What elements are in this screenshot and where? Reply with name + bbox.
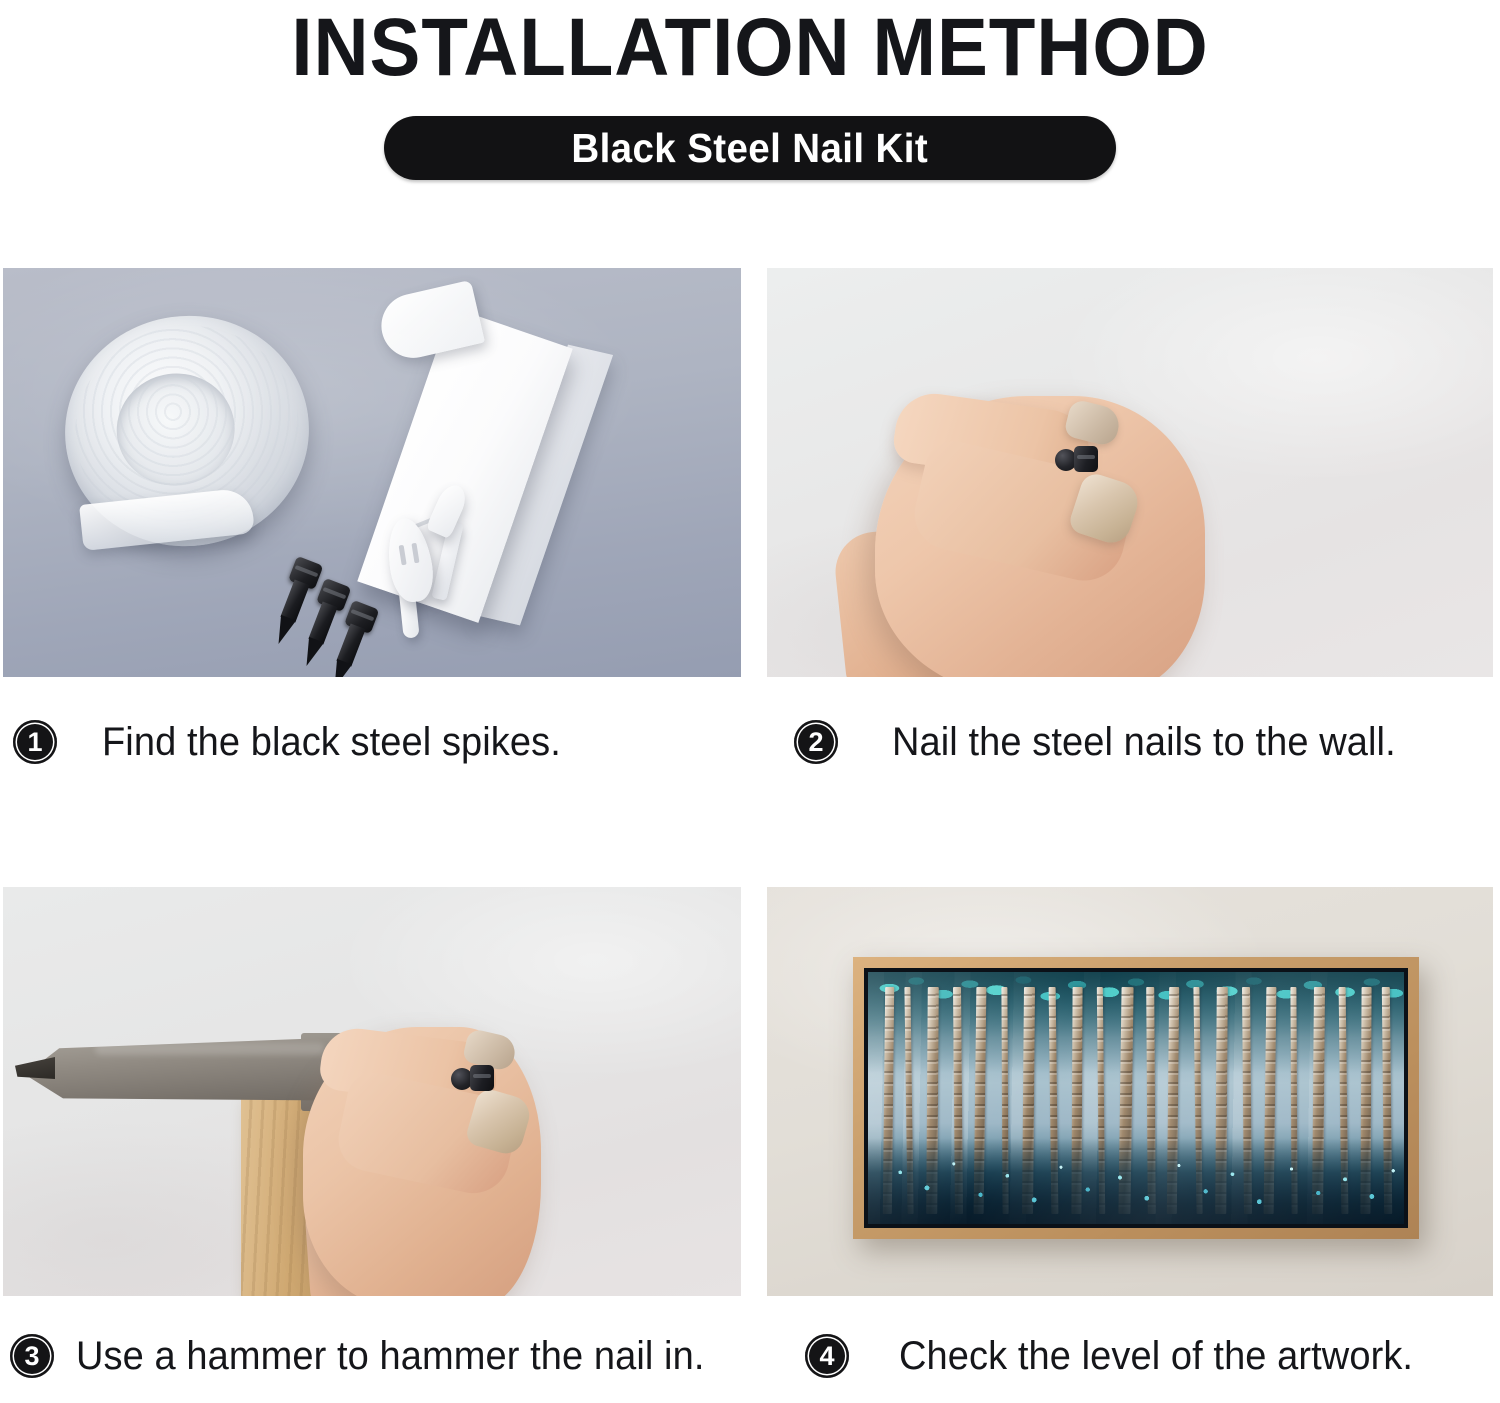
step-2-caption: 2 Nail the steel nails to the wall.	[767, 709, 1493, 775]
positioning-nail-photo	[767, 268, 1493, 677]
hanger-head-a-object	[383, 515, 438, 605]
hanger-head-b-object	[426, 481, 471, 539]
steps-row-2: 3 Use a hammer to hammer the nail in.	[0, 887, 1500, 1389]
step-caption-text: Use a hammer to hammer the nail in.	[76, 1334, 704, 1379]
step-4-caption: 4 Check the level of the artwork.	[767, 1323, 1493, 1389]
box-flap-object	[375, 280, 485, 364]
hammering-nail-photo	[3, 887, 741, 1296]
subtitle-pill-wrap: Black Steel Nail Kit	[0, 116, 1500, 180]
header: INSTALLATION METHOD Black Steel Nail Kit	[0, 0, 1500, 180]
artwork-frame	[853, 957, 1419, 1239]
step-1: 1 Find the black steel spikes.	[3, 268, 741, 775]
step-4: 4 Check the level of the artwork.	[767, 887, 1493, 1389]
steel-spike-object	[270, 557, 319, 644]
kit-contents-photo	[3, 268, 741, 677]
hanger-stem-b-object	[431, 521, 463, 600]
subtitle-pill-label: Black Steel Nail Kit	[572, 125, 929, 172]
steel-spike-object	[326, 601, 375, 677]
hanger-wire-object	[397, 509, 456, 536]
step-number-badge: 1	[13, 720, 57, 764]
hanger-stem-a-object	[398, 585, 419, 638]
step-number-badge: 4	[805, 1334, 849, 1378]
step-caption-text: Nail the steel nails to the wall.	[892, 720, 1396, 765]
step-caption-text: Find the black steel spikes.	[102, 720, 561, 765]
steel-nail-object	[1055, 446, 1101, 472]
white-box-object	[357, 307, 572, 623]
steps-grid: 1 Find the black steel spikes. 2 Nail th…	[0, 268, 1500, 1389]
tape-tail-object	[79, 487, 255, 551]
hammer-wedge-object	[15, 1057, 55, 1079]
step-1-caption: 1 Find the black steel spikes.	[3, 709, 741, 775]
page-title: INSTALLATION METHOD	[53, 0, 1448, 94]
step-2: 2 Nail the steel nails to the wall.	[767, 268, 1493, 775]
subtitle-pill: Black Steel Nail Kit	[384, 116, 1116, 180]
step-number-badge: 3	[10, 1334, 54, 1378]
steel-spike-object	[298, 579, 347, 666]
step-3: 3 Use a hammer to hammer the nail in.	[3, 887, 741, 1389]
birch-forest-painting	[868, 972, 1404, 1224]
box-side-object	[475, 345, 613, 626]
painting-glare-layer	[868, 972, 1404, 1224]
tape-roll-object	[50, 300, 324, 562]
hung-artwork-photo	[767, 887, 1493, 1296]
steps-row-1: 1 Find the black steel spikes. 2 Nail th…	[0, 268, 1500, 775]
step-caption-text: Check the level of the artwork.	[899, 1334, 1413, 1379]
step-number-badge: 2	[794, 720, 838, 764]
steel-nail-object	[451, 1065, 497, 1091]
step-3-caption: 3 Use a hammer to hammer the nail in.	[3, 1323, 741, 1389]
frame-inner-liner	[864, 968, 1408, 1228]
